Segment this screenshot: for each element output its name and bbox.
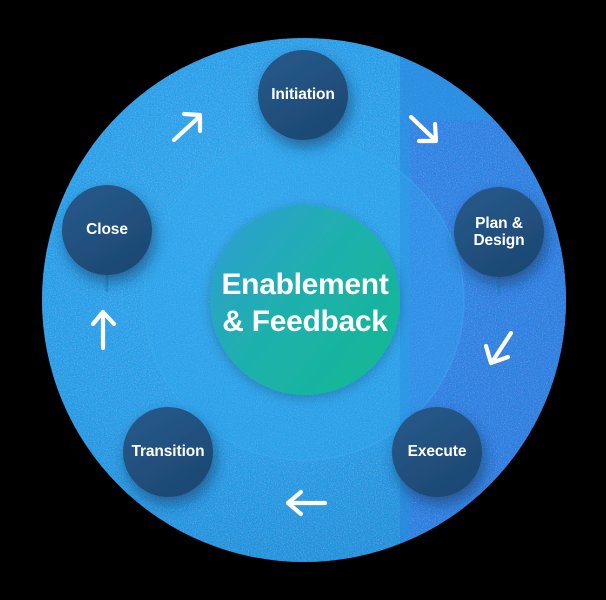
node-label-transition: Transition [131,443,204,460]
node-initiation[interactable]: Initiation [243,75,363,115]
diagram-canvas: Enablement & Feedback Initiation Plan & … [0,0,606,600]
node-plan-design[interactable]: Plan & Design [439,202,559,262]
node-close[interactable]: Close [47,210,167,250]
center-circle [210,205,400,395]
node-label-plan-design-line-1: Plan & [473,215,524,232]
node-label-initiation: Initiation [271,86,335,103]
node-label-close: Close [86,221,128,238]
node-label-plan-design-line-2: Design [473,232,524,249]
node-execute[interactable]: Execute [377,432,497,472]
node-label-plan-design: Plan & Design [473,215,524,250]
node-label-execute: Execute [408,443,467,460]
node-transition[interactable]: Transition [108,432,228,472]
